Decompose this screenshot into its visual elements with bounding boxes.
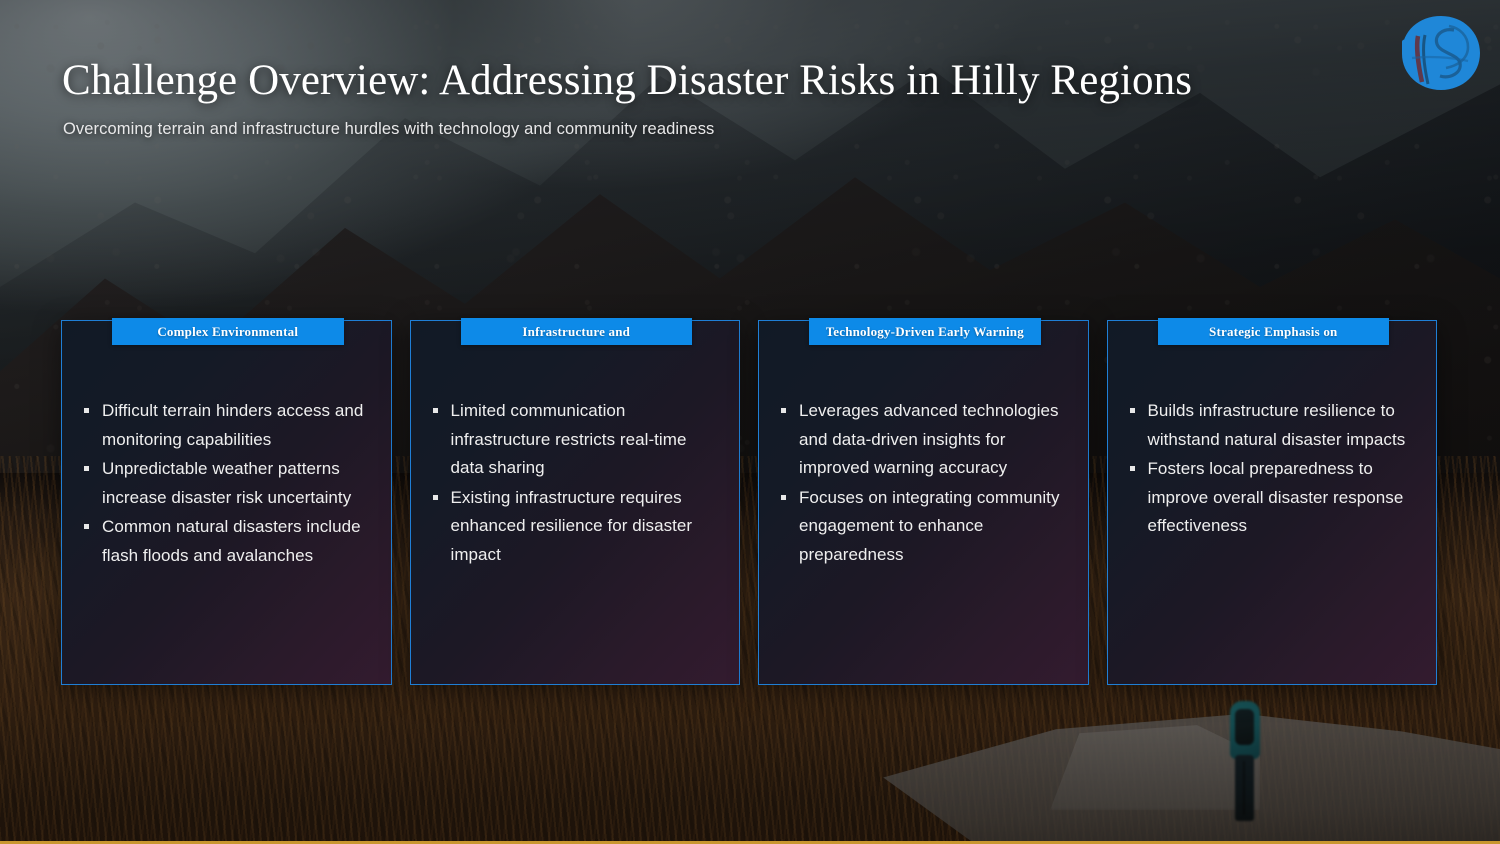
list-item-text: Unpredictable weather patterns increase … (102, 459, 351, 507)
card-infrastructure-and[interactable]: Infrastructure and Limited communication… (410, 320, 741, 685)
list-item-text: Common natural disasters include flash f… (102, 517, 361, 565)
company-logo-icon (1388, 6, 1492, 98)
card-body: Difficult terrain hinders access and mon… (62, 321, 391, 586)
bullet-square-icon (433, 408, 438, 413)
slide-canvas: Challenge Overview: Addressing Disaster … (0, 0, 1500, 844)
list-item-text: Fosters local preparedness to improve ov… (1148, 459, 1404, 535)
card-grid: Complex Environmental Difficult terrain … (61, 320, 1437, 685)
list-item: Fosters local preparedness to improve ov… (1128, 455, 1415, 541)
list-item: Leverages advanced technologies and data… (779, 397, 1066, 483)
card-header-pill: Complex Environmental (112, 318, 344, 345)
list-item: Existing infrastructure requires enhance… (431, 484, 718, 570)
list-item: Limited communication infrastructure res… (431, 397, 718, 483)
list-item-text: Leverages advanced technologies and data… (799, 401, 1059, 477)
card-complex-environmental[interactable]: Complex Environmental Difficult terrain … (61, 320, 392, 685)
bullet-square-icon (781, 408, 786, 413)
page-subtitle: Overcoming terrain and infrastructure hu… (63, 120, 714, 139)
bullet-square-icon (433, 495, 438, 500)
list-item: Common natural disasters include flash f… (82, 513, 369, 570)
card-technology-driven-early-warning[interactable]: Technology-Driven Early Warning Leverage… (758, 320, 1089, 685)
list-item: Focuses on integrating community engagem… (779, 484, 1066, 570)
list-item-text: Focuses on integrating community engagem… (799, 488, 1060, 564)
card-strategic-emphasis-on[interactable]: Strategic Emphasis on Builds infrastruct… (1107, 320, 1438, 685)
card-header-label: Infrastructure and (522, 324, 630, 340)
bullet-square-icon (84, 408, 89, 413)
list-item: Builds infrastructure resilience to with… (1128, 397, 1415, 454)
card-body: Builds infrastructure resilience to with… (1108, 321, 1437, 556)
bullet-square-icon (1130, 466, 1135, 471)
bullet-square-icon (84, 466, 89, 471)
bullet-list: Builds infrastructure resilience to with… (1128, 397, 1415, 541)
card-header-pill: Infrastructure and (461, 318, 693, 345)
card-header-label: Complex Environmental (157, 324, 298, 340)
bullet-list: Difficult terrain hinders access and mon… (82, 397, 369, 571)
list-item-text: Builds infrastructure resilience to with… (1148, 401, 1406, 449)
list-item: Unpredictable weather patterns increase … (82, 455, 369, 512)
bullet-square-icon (84, 524, 89, 529)
bullet-list: Limited communication infrastructure res… (431, 397, 718, 570)
list-item-text: Existing infrastructure requires enhance… (451, 488, 693, 564)
card-header-label: Technology-Driven Early Warning (826, 324, 1024, 340)
card-header-pill: Strategic Emphasis on (1158, 318, 1390, 345)
card-header-label: Strategic Emphasis on (1209, 324, 1337, 340)
page-title: Challenge Overview: Addressing Disaster … (62, 56, 1192, 105)
bullet-square-icon (1130, 408, 1135, 413)
list-item: Difficult terrain hinders access and mon… (82, 397, 369, 454)
bullet-square-icon (781, 495, 786, 500)
card-body: Leverages advanced technologies and data… (759, 321, 1088, 585)
card-body: Limited communication infrastructure res… (411, 321, 740, 585)
card-header-pill: Technology-Driven Early Warning (809, 318, 1041, 345)
bullet-list: Leverages advanced technologies and data… (779, 397, 1066, 570)
list-item-text: Difficult terrain hinders access and mon… (102, 401, 363, 449)
list-item-text: Limited communication infrastructure res… (451, 401, 687, 477)
